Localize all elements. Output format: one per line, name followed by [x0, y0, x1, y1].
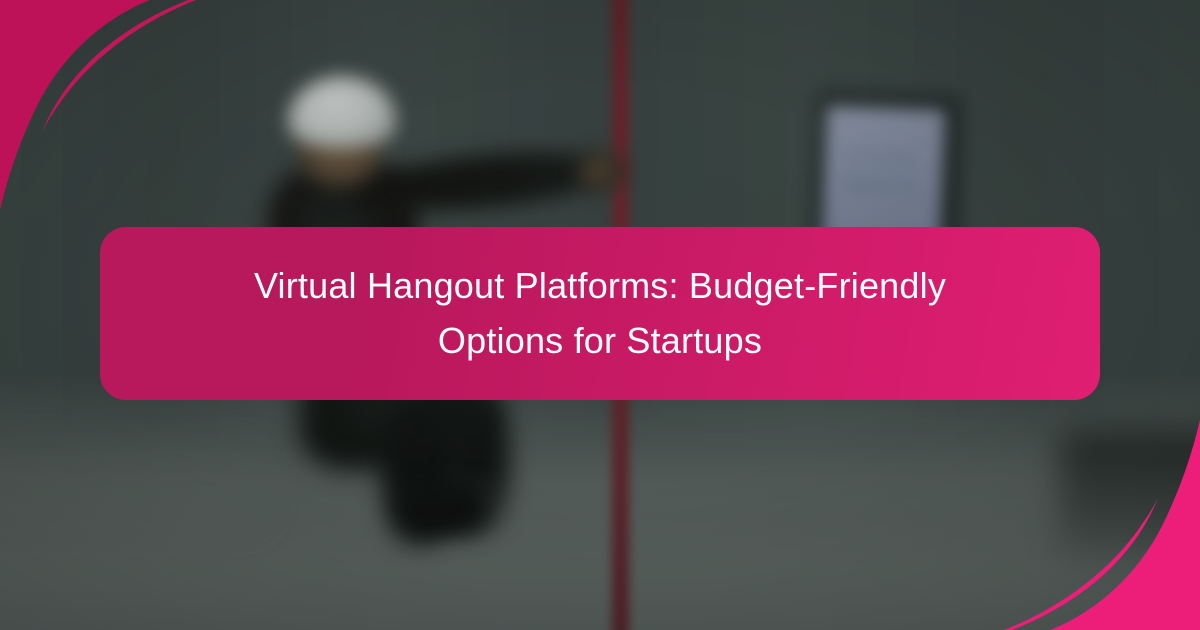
social-share-card: Virtual Hangout Platforms: Budget-Friend…	[0, 0, 1200, 630]
page-title: Virtual Hangout Platforms: Budget-Friend…	[254, 259, 946, 368]
title-banner: Virtual Hangout Platforms: Budget-Friend…	[100, 227, 1100, 400]
